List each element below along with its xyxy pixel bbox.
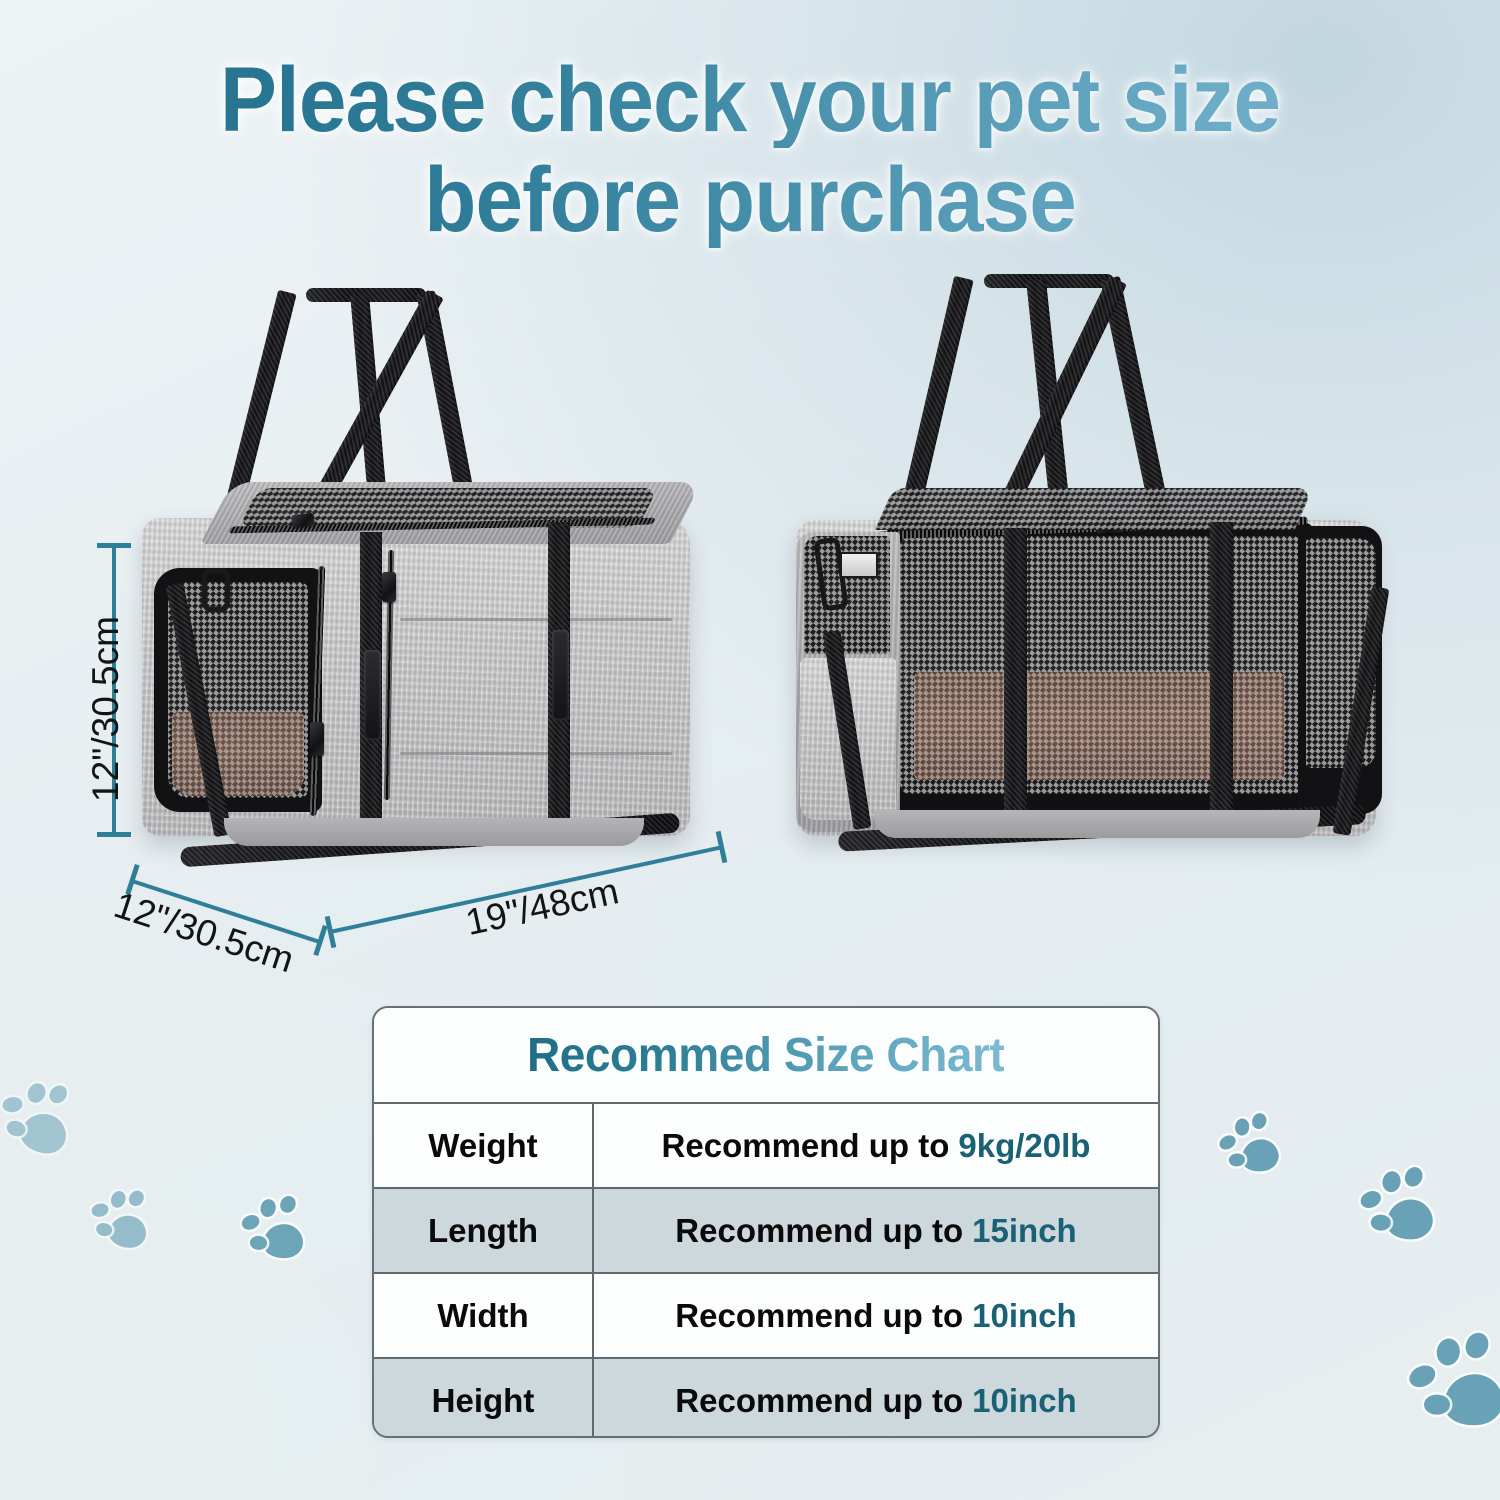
table-row: Height Recommend up to 10inch [374,1359,1158,1438]
page-title-line-2: before purchase [53,154,1448,248]
size-chart-prefix-height: Recommend up to [675,1382,963,1420]
carrier-front-pocket-seam-bottom [400,752,672,755]
carrier-shoulder-strap-hook [202,568,230,612]
size-chart-label-length: Length [374,1189,594,1272]
paw-print-icon [1340,1150,1450,1260]
page-title: Please check your pet size before purcha… [0,54,1500,248]
dimension-height-label: 12"/30.5cm [85,589,127,829]
paw-print-icon [225,1182,317,1274]
paw-print-icon [1382,1310,1500,1455]
pet-carrier-mesh-view [778,270,1418,870]
carrier2-body-strap-right [1210,522,1233,828]
size-chart-label-width: Width [374,1274,594,1357]
size-chart-prefix-weight: Recommend up to [662,1127,950,1165]
infographic-canvas: Please check your pet size before purcha… [0,0,1500,1500]
carrier2-body-strap-left [1004,528,1027,828]
table-row: Weight Recommend up to 9kg/20lb [374,1104,1158,1189]
carrier-base [224,818,644,846]
carrier-strap-clip-right [552,630,569,720]
size-chart-highlight-height: 10inch [972,1382,1077,1420]
carrier-strap-clip-left [364,650,381,740]
carrier2-base [874,810,1320,838]
paw-print-icon [75,1175,160,1260]
carrier2-top-lid [875,488,1314,530]
size-chart-title-text: Recommed Size Chart [527,1028,1004,1083]
table-row: Width Recommend up to 10inch [374,1274,1158,1359]
carrier-front-zipper-pull [382,572,396,602]
table-row: Length Recommend up to 15inch [374,1189,1158,1274]
carrier2-handle-strap [984,274,1114,288]
dimension-height-cap-bottom [97,832,131,837]
carrier-side-zipper-pull [310,722,324,756]
size-chart-label-weight: Weight [374,1104,594,1187]
carrier-top-zipper-pull [291,513,314,528]
size-chart-prefix-length: Recommend up to [675,1212,963,1250]
size-chart-value-weight: Recommend up to 9kg/20lb [594,1104,1158,1187]
size-chart-title: Recommed Size Chart [374,1008,1158,1104]
size-chart-prefix-width: Recommend up to [675,1297,963,1335]
size-chart-value-width: Recommend up to 10inch [594,1274,1158,1357]
size-chart-value-length: Recommend up to 15inch [594,1189,1158,1272]
size-chart-highlight-weight: 9kg/20lb [958,1127,1090,1165]
pet-carrier-side-view [128,282,748,882]
paw-print-icon [0,1060,90,1171]
dimension-depth-label: 12"/30.5cm [109,884,299,981]
carrier2-brand-tag [840,552,878,578]
size-chart-table: Recommed Size Chart Weight Recommend up … [372,1006,1160,1438]
carrier-front-pocket-seam-top [400,618,672,621]
page-title-line-1: Please check your pet size [53,54,1448,148]
paw-print-icon [1200,1098,1295,1193]
size-chart-highlight-length: 15inch [972,1212,1077,1250]
size-chart-value-height: Recommend up to 10inch [594,1359,1158,1438]
size-chart-label-height: Height [374,1359,594,1438]
size-chart-highlight-width: 10inch [972,1297,1077,1335]
dimension-height-cap-top [97,543,131,548]
